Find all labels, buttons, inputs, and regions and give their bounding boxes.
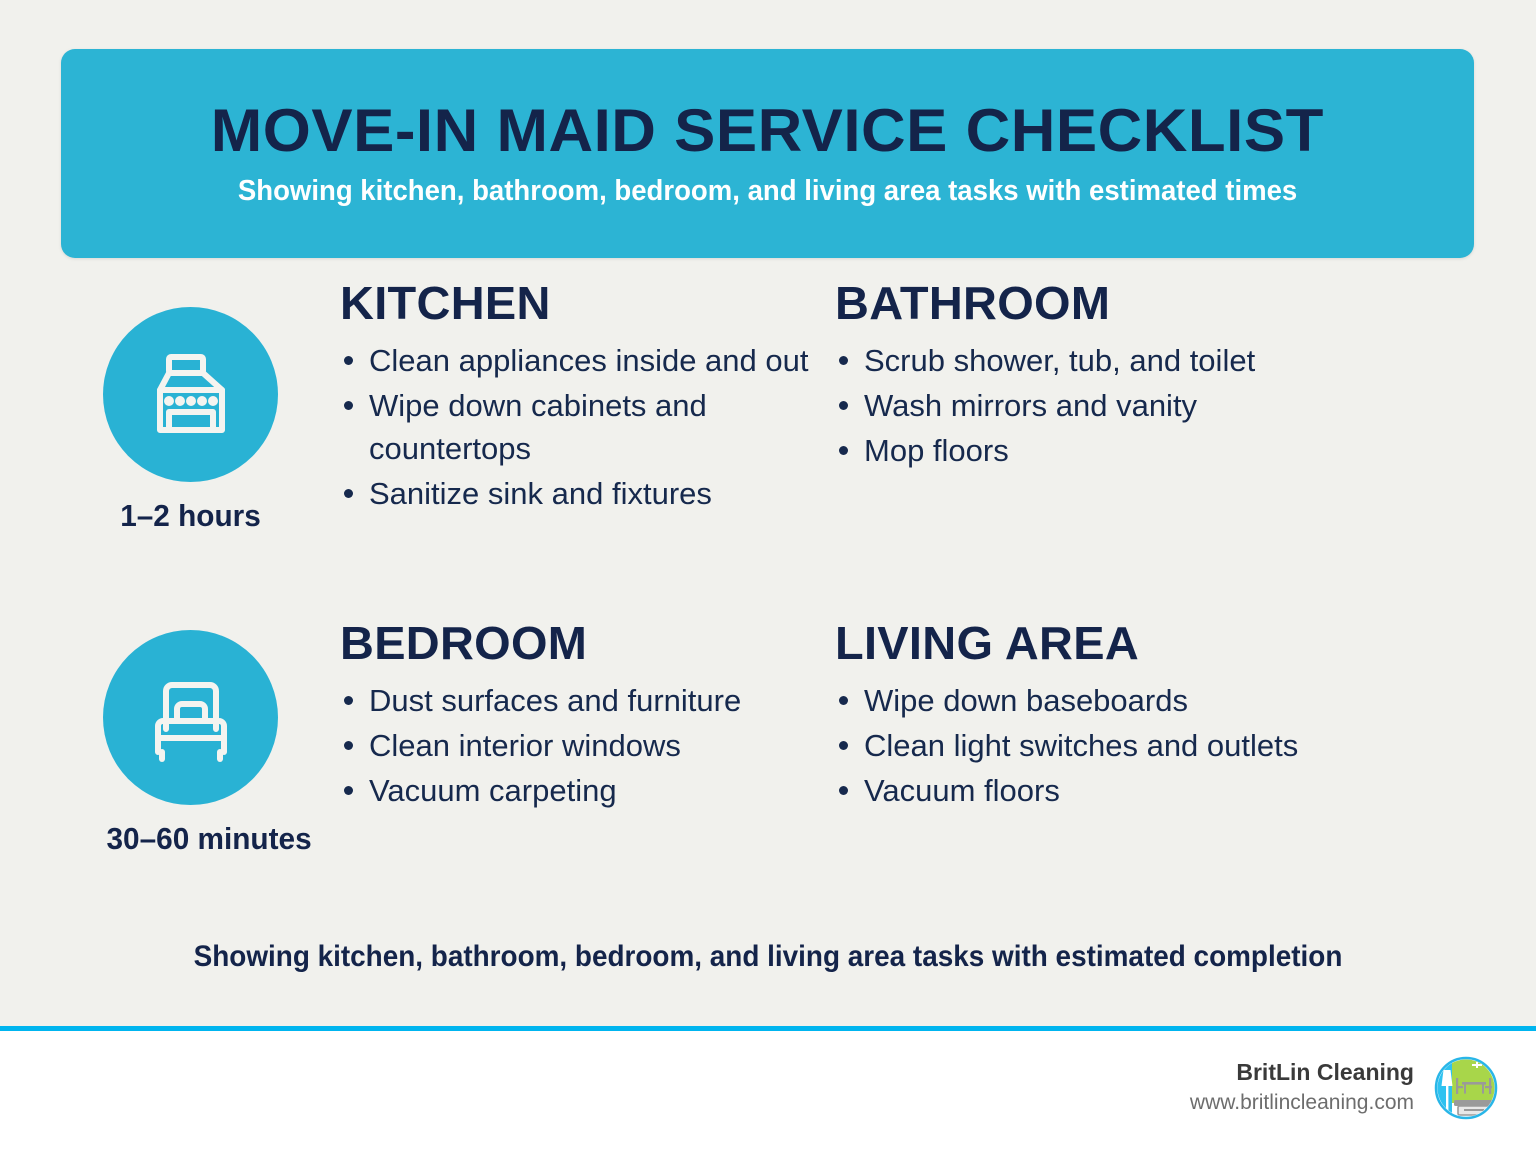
bed-icon — [139, 666, 243, 770]
task-item: Scrub shower, tub, and toilet — [835, 339, 1435, 382]
task-item: Wash mirrors and vanity — [835, 384, 1435, 427]
task-item: Mop floors — [835, 429, 1435, 472]
section-living-area: LIVING AREA Wipe down baseboards Clean l… — [835, 620, 1435, 814]
badge-circle — [103, 307, 278, 482]
task-item: Wipe down baseboards — [835, 679, 1435, 722]
bedroom-time-label: 30–60 minutes — [107, 821, 275, 857]
section-title-kitchen: KITCHEN — [340, 280, 819, 327]
task-list-bedroom: Dust surfaces and furniture Clean interi… — [340, 679, 810, 812]
infographic-poster: MOVE-IN MAID SERVICE CHECKLIST Showing k… — [0, 0, 1536, 1154]
section-title-living-area: LIVING AREA — [835, 620, 1447, 667]
room-interior-logo — [1434, 1056, 1498, 1120]
sections-container: 1–2 hours KITCHEN Clean appliances insid… — [0, 280, 1536, 895]
task-list-kitchen: Clean appliances inside and out Wipe dow… — [340, 339, 810, 515]
section-row: 30–60 minutes BEDROOM Dust surfaces and … — [0, 620, 1536, 895]
brand-url[interactable]: www.britlincleaning.com — [1190, 1089, 1414, 1116]
section-bathroom: BATHROOM Scrub shower, tub, and toilet W… — [835, 280, 1435, 474]
page-subtitle: Showing kitchen, bathroom, bedroom, and … — [238, 176, 1297, 208]
bottom-caption: Showing kitchen, bathroom, bedroom, and … — [54, 940, 1482, 974]
task-item: Dust surfaces and furniture — [340, 679, 810, 722]
task-item: Clean light switches and outlets — [835, 724, 1435, 767]
header-banner: MOVE-IN MAID SERVICE CHECKLIST Showing k… — [61, 49, 1474, 258]
brand-block: BritLin Cleaning www.britlincleaning.com — [1190, 1058, 1414, 1116]
kitchen-time-label: 1–2 hours — [107, 498, 275, 534]
stove-icon — [139, 343, 243, 447]
task-item: Clean appliances inside and out — [340, 339, 810, 382]
section-row: 1–2 hours KITCHEN Clean appliances insid… — [0, 280, 1536, 620]
section-title-bathroom: BATHROOM — [835, 280, 1447, 327]
section-kitchen: KITCHEN Clean appliances inside and out … — [340, 280, 810, 517]
page-title: MOVE-IN MAID SERVICE CHECKLIST — [211, 99, 1324, 162]
kitchen-time-badge: 1–2 hours — [103, 307, 278, 534]
section-title-bedroom: BEDROOM — [340, 620, 819, 667]
task-list-living-area: Wipe down baseboards Clean light switche… — [835, 679, 1435, 812]
task-item: Vacuum floors — [835, 769, 1435, 812]
bedroom-time-badge: 30–60 minutes — [103, 630, 278, 857]
section-bedroom: BEDROOM Dust surfaces and furniture Clea… — [340, 620, 810, 814]
badge-circle — [103, 630, 278, 805]
task-item: Vacuum carpeting — [340, 769, 810, 812]
task-list-bathroom: Scrub shower, tub, and toilet Wash mirro… — [835, 339, 1435, 472]
task-item: Clean interior windows — [340, 724, 810, 767]
task-item: Wipe down cabinets and countertops — [340, 384, 810, 470]
task-item: Sanitize sink and fixtures — [340, 472, 810, 515]
brand-name: BritLin Cleaning — [1190, 1058, 1414, 1087]
